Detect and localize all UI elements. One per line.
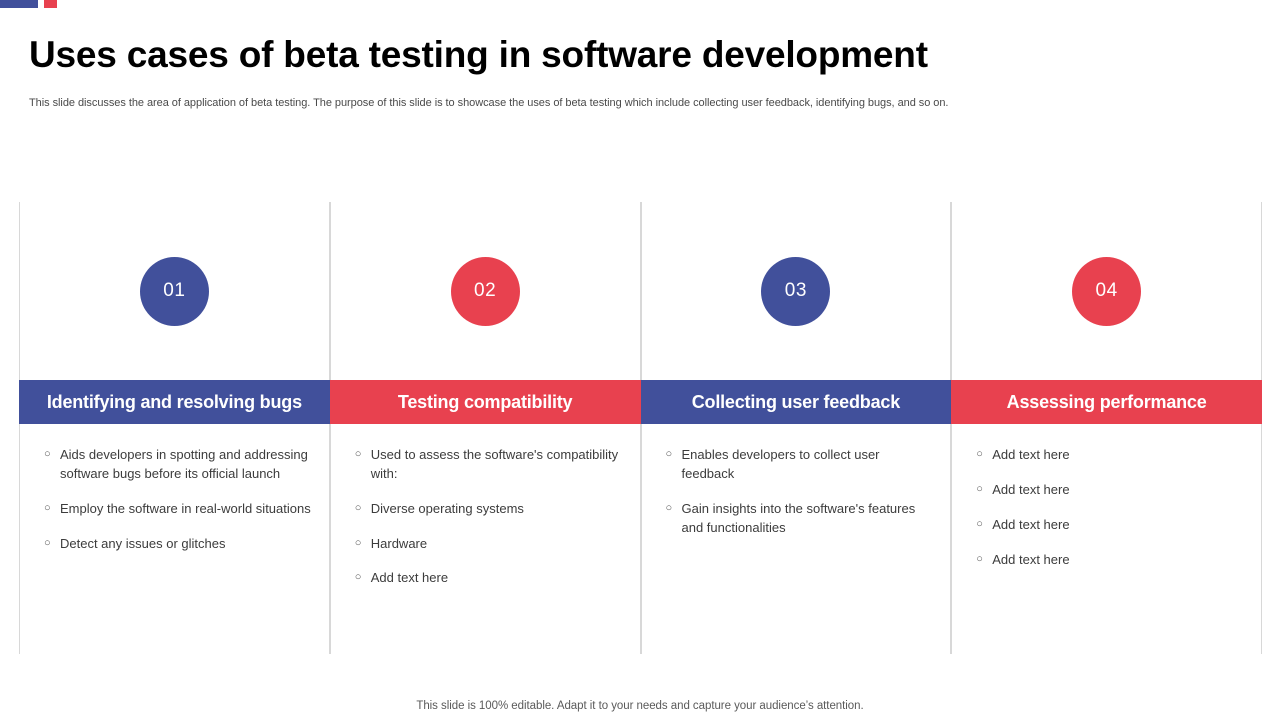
- bullet-list: ○Add text here○Add text here○Add text he…: [976, 446, 1243, 569]
- card-badge-area: 02: [331, 202, 640, 380]
- card-body: ○Used to assess the software's compatibi…: [331, 424, 640, 654]
- circle-bullet-icon: ○: [44, 500, 60, 519]
- list-item-label: Detect any issues or glitches: [60, 535, 311, 554]
- list-item-label: Enables developers to collect user feedb…: [682, 446, 933, 484]
- use-case-card: 04Assessing performance○Add text here○Ad…: [951, 202, 1262, 654]
- title-block: Uses cases of beta testing in software d…: [29, 34, 1251, 111]
- card-badge-area: 01: [20, 202, 329, 380]
- list-item: ○Enables developers to collect user feed…: [666, 446, 933, 484]
- list-item: ○Employ the software in real-world situa…: [44, 500, 311, 519]
- list-item: ○Hardware: [355, 535, 622, 554]
- list-item-label: Add text here: [992, 446, 1243, 465]
- list-item: ○Gain insights into the software's featu…: [666, 500, 933, 538]
- card-badge-area: 03: [642, 202, 951, 380]
- circle-bullet-icon: ○: [355, 446, 371, 484]
- list-item-label: Add text here: [992, 551, 1243, 570]
- list-item-label: Add text here: [371, 569, 622, 588]
- circle-bullet-icon: ○: [355, 500, 371, 519]
- use-case-card: 02Testing compatibility○Used to assess t…: [330, 202, 641, 654]
- list-item: ○Add text here: [976, 551, 1243, 570]
- bullet-list: ○Enables developers to collect user feed…: [666, 446, 933, 537]
- decoration-red-square: [44, 0, 57, 8]
- card-body: ○Aids developers in spotting and address…: [20, 424, 329, 654]
- step-number-badge: 01: [140, 257, 209, 326]
- circle-bullet-icon: ○: [976, 481, 992, 500]
- card-heading: Identifying and resolving bugs: [19, 380, 330, 424]
- circle-bullet-icon: ○: [355, 569, 371, 588]
- card-heading: Collecting user feedback: [641, 380, 952, 424]
- page-title: Uses cases of beta testing in software d…: [29, 34, 1251, 77]
- step-number-badge: 03: [761, 257, 830, 326]
- list-item-label: Aids developers in spotting and addressi…: [60, 446, 311, 484]
- circle-bullet-icon: ○: [44, 446, 60, 484]
- list-item: ○Used to assess the software's compatibi…: [355, 446, 622, 484]
- list-item: ○Detect any issues or glitches: [44, 535, 311, 554]
- use-case-card: 01Identifying and resolving bugs○Aids de…: [19, 202, 330, 654]
- use-case-cards: 01Identifying and resolving bugs○Aids de…: [19, 202, 1262, 654]
- bullet-list: ○Aids developers in spotting and address…: [44, 446, 311, 553]
- circle-bullet-icon: ○: [44, 535, 60, 554]
- list-item-label: Used to assess the software's compatibil…: [371, 446, 622, 484]
- list-item-label: Hardware: [371, 535, 622, 554]
- list-item-label: Employ the software in real-world situat…: [60, 500, 311, 519]
- use-case-card: 03Collecting user feedback○Enables devel…: [641, 202, 952, 654]
- list-item-label: Add text here: [992, 516, 1243, 535]
- list-item: ○Add text here: [976, 446, 1243, 465]
- circle-bullet-icon: ○: [355, 535, 371, 554]
- card-heading: Assessing performance: [951, 380, 1262, 424]
- card-badge-area: 04: [952, 202, 1261, 380]
- circle-bullet-icon: ○: [976, 516, 992, 535]
- list-item: ○Aids developers in spotting and address…: [44, 446, 311, 484]
- list-item: ○Add text here: [976, 516, 1243, 535]
- decoration-blue-bar: [0, 0, 38, 8]
- card-body: ○Add text here○Add text here○Add text he…: [952, 424, 1261, 654]
- page-subtitle: This slide discusses the area of applica…: [29, 96, 1251, 111]
- list-item-label: Gain insights into the software's featur…: [682, 500, 933, 538]
- bullet-list: ○Used to assess the software's compatibi…: [355, 446, 622, 588]
- list-item: ○Diverse operating systems: [355, 500, 622, 519]
- circle-bullet-icon: ○: [976, 446, 992, 465]
- list-item-label: Diverse operating systems: [371, 500, 622, 519]
- card-heading: Testing compatibility: [330, 380, 641, 424]
- circle-bullet-icon: ○: [976, 551, 992, 570]
- list-item-label: Add text here: [992, 481, 1243, 500]
- list-item: ○Add text here: [976, 481, 1243, 500]
- step-number-badge: 02: [451, 257, 520, 326]
- footer-note: This slide is 100% editable. Adapt it to…: [0, 700, 1280, 712]
- list-item: ○Add text here: [355, 569, 622, 588]
- circle-bullet-icon: ○: [666, 446, 682, 484]
- card-body: ○Enables developers to collect user feed…: [642, 424, 951, 654]
- step-number-badge: 04: [1072, 257, 1141, 326]
- circle-bullet-icon: ○: [666, 500, 682, 538]
